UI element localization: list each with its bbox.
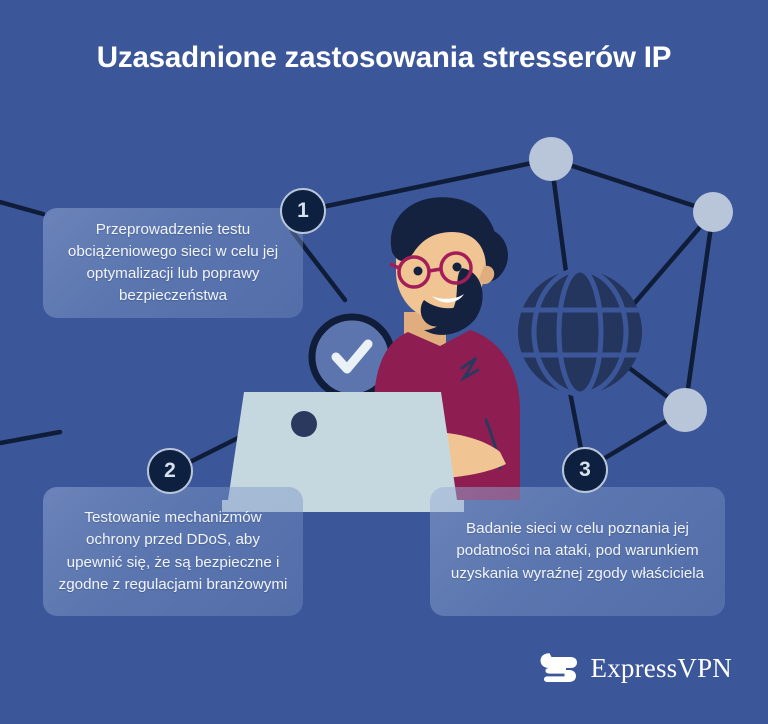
callout-text-1: Przeprowadzenie testu obciążeniowego sie… [57, 219, 289, 307]
expressvpn-e-icon [540, 650, 580, 686]
callout-box-3: Badanie sieci w celu poznania jej podatn… [430, 487, 725, 616]
eye-left [414, 267, 423, 276]
laptop-logo [291, 411, 317, 437]
step-badge-1-number: 1 [297, 199, 309, 223]
eye-right [453, 263, 462, 272]
infographic-canvas: Uzasadnione zastosowania stresserów IP [0, 0, 768, 724]
callout-text-3: Badanie sieci w celu poznania jej podatn… [444, 518, 711, 584]
step-badge-2: 2 [147, 448, 193, 494]
callout-box-1: Przeprowadzenie testu obciążeniowego sie… [43, 208, 303, 318]
step-badge-1: 1 [280, 188, 326, 234]
step-badge-2-number: 2 [164, 459, 176, 483]
expressvpn-logo: ExpressVPN [540, 650, 733, 686]
wireframe-globe-icon [518, 270, 642, 394]
step-badge-3-number: 3 [579, 458, 591, 482]
brand-wordmark: ExpressVPN [591, 655, 733, 682]
callout-text-2: Testowanie mechanizmów ochrony przed DDo… [57, 507, 289, 595]
step-badge-3: 3 [562, 447, 608, 493]
callout-box-2: Testowanie mechanizmów ochrony przed DDo… [43, 487, 303, 616]
